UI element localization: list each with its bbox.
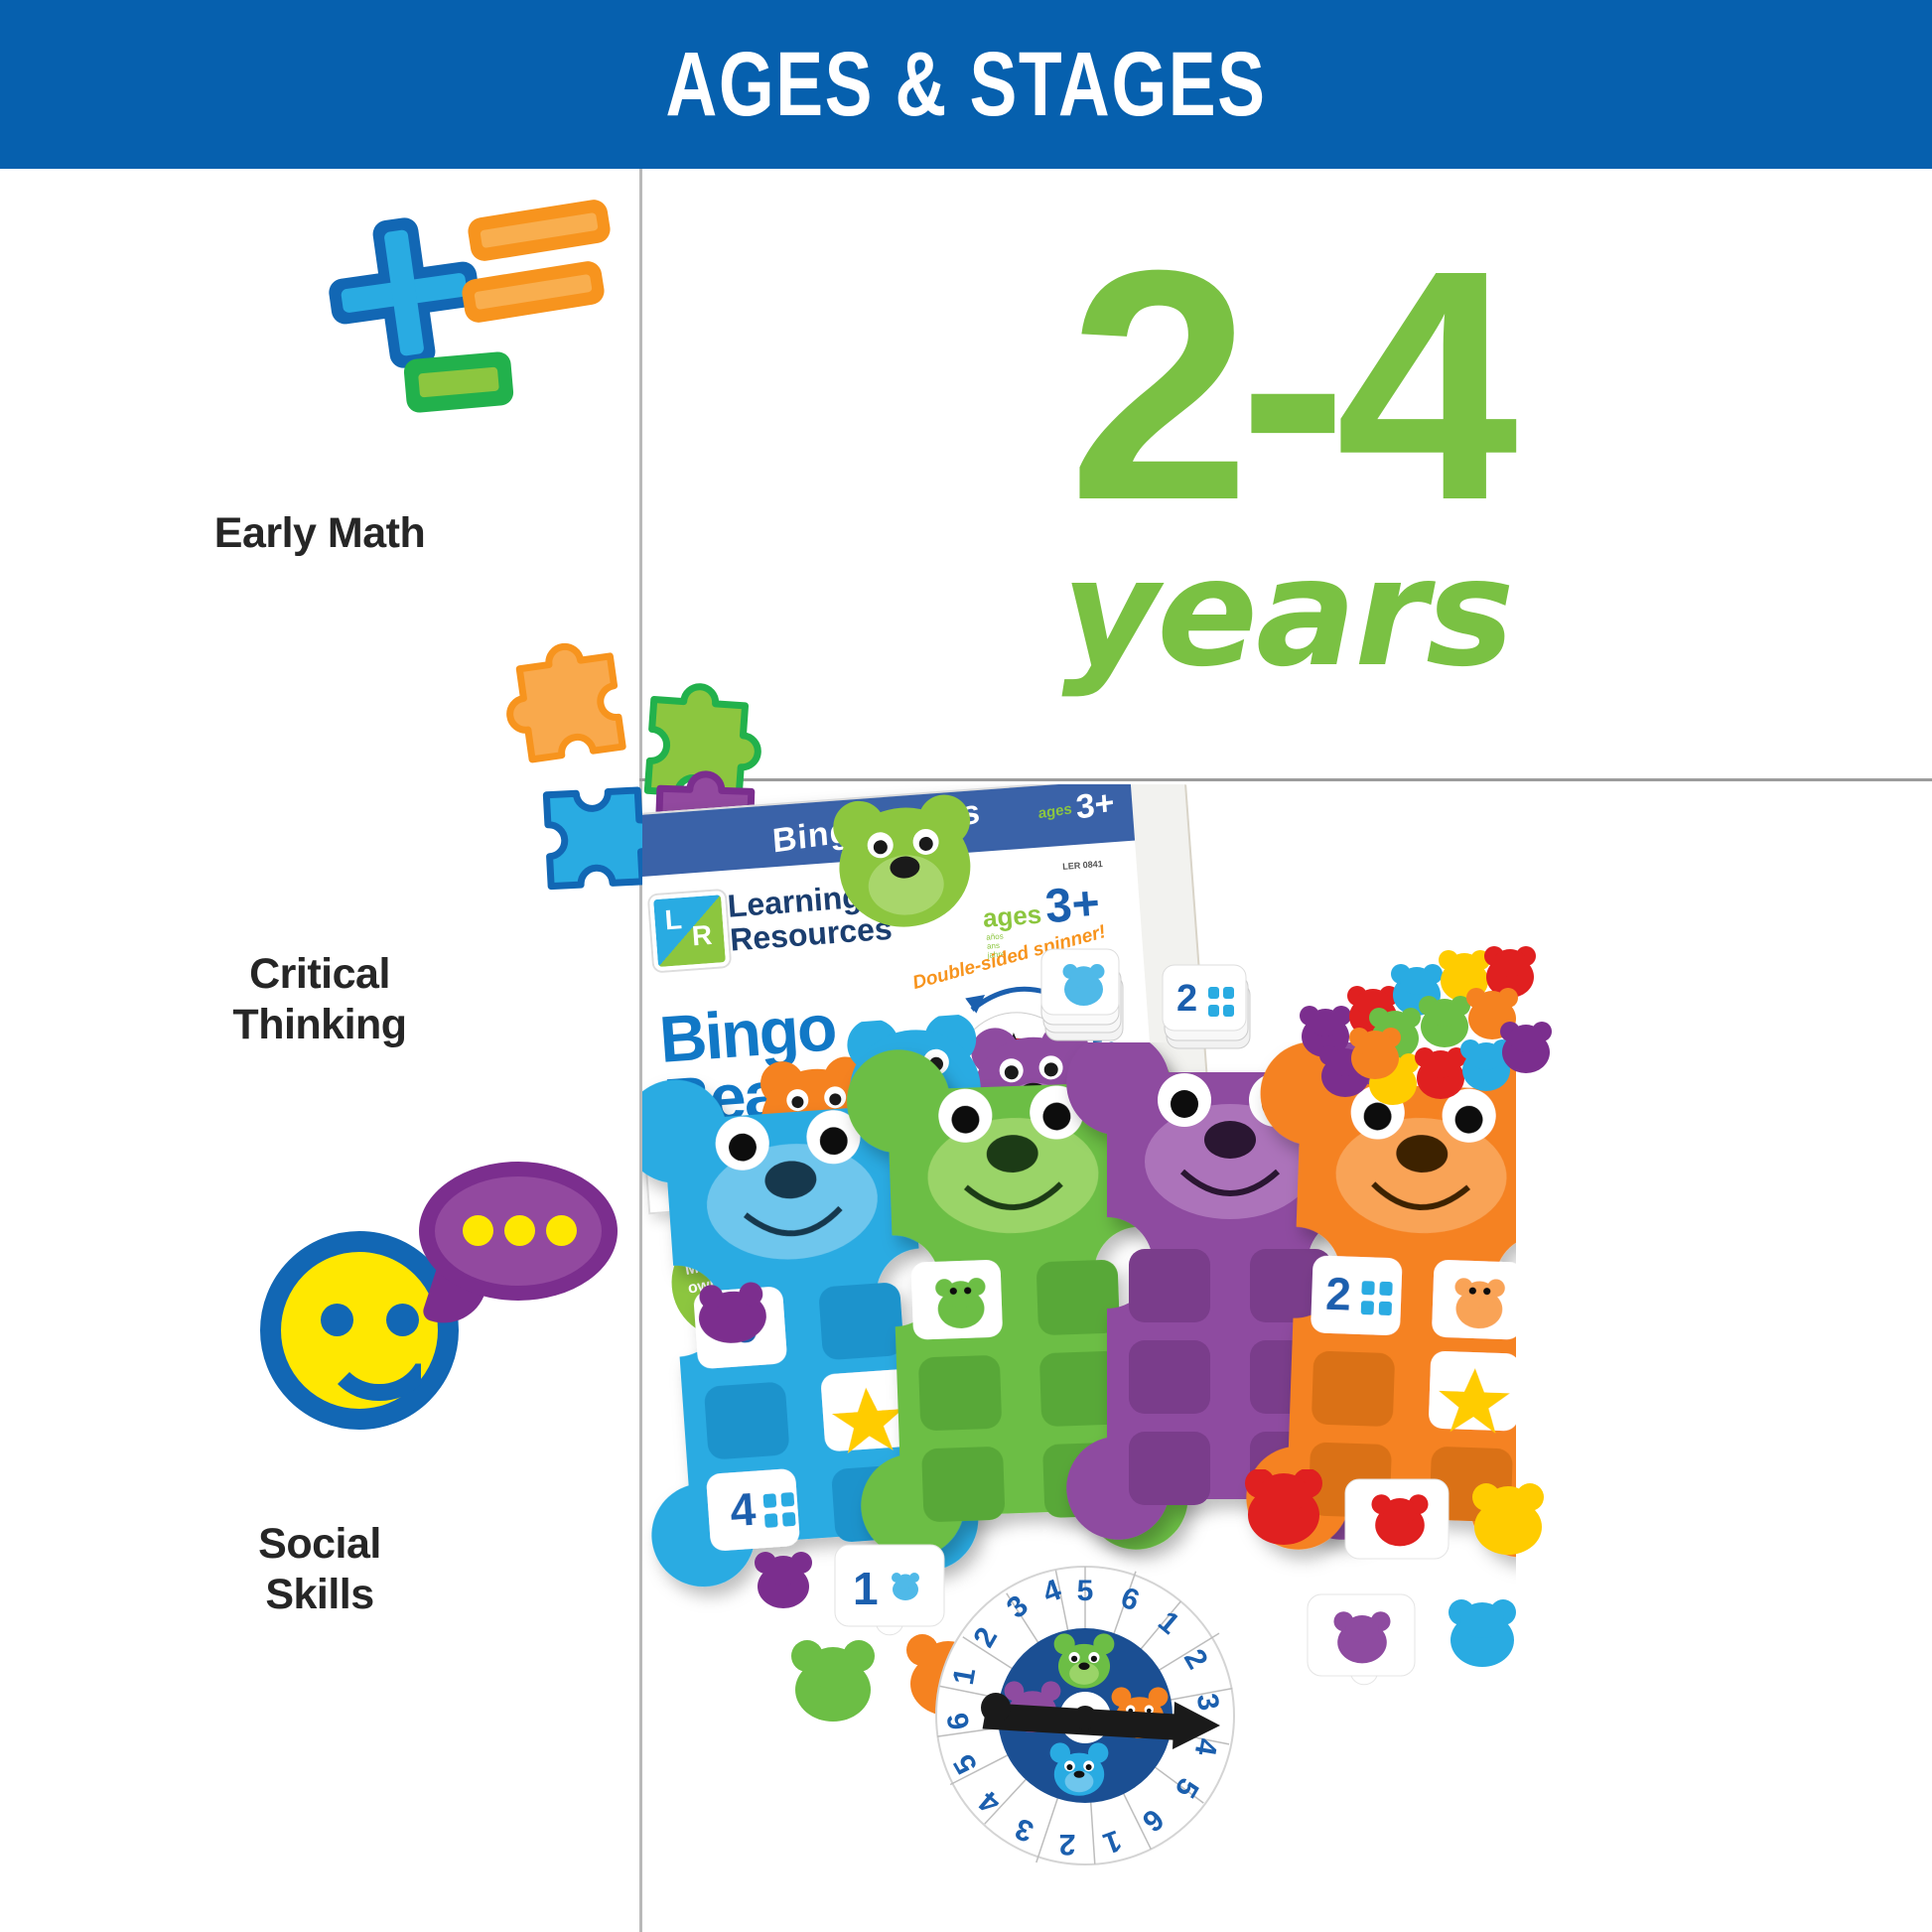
skills-sidebar: Early Math Critical Thinking [0, 169, 639, 1932]
early-math-icon [310, 189, 637, 437]
skill-item-social-skills: Social Skills [0, 1162, 639, 1619]
game-spinner: 5 6 1 2 3 4 5 6 1 2 3 4 5 6 1 2 3 4 [926, 1557, 1244, 1874]
ellipsis-dot-3 [546, 1215, 577, 1246]
svg-text:2: 2 [1176, 978, 1197, 1020]
green-counter-loose [791, 1640, 875, 1722]
smiley-speech-bubble-icon [240, 1162, 618, 1459]
left-eye-icon [321, 1304, 353, 1336]
skill-label-critical-thinking: Critical Thinking [0, 949, 639, 1049]
age-range-number: 2-4 [642, 221, 1932, 549]
age-range-unit: years [642, 539, 1932, 688]
minus-sign-icon [403, 350, 514, 413]
svg-text:2: 2 [1059, 1828, 1076, 1861]
learning-resources-cube-logo: LR [649, 891, 730, 971]
ellipsis-dot-1 [463, 1215, 493, 1246]
tile-red-bear [1345, 1479, 1449, 1559]
band-ages-value: 3+ [1074, 784, 1115, 827]
box-art-green-bear [814, 784, 994, 947]
right-eye-icon [386, 1304, 419, 1336]
svg-text:1: 1 [853, 1563, 879, 1614]
skill-label-early-math: Early Math [0, 508, 639, 559]
puzzle-pieces-icon [310, 625, 637, 923]
tile-stacks-group: 2 [1039, 935, 1298, 1064]
header-banner: AGES & STAGES [0, 0, 1932, 169]
tile-stack-2: 2 [1163, 965, 1250, 1048]
red-counter-loose [1245, 1469, 1322, 1545]
yellow-counter-loose [1472, 1483, 1544, 1555]
tile-purple-bear [1308, 1594, 1415, 1685]
product-photo: Bingo Bears ages 3+ LR Learning Resource… [642, 784, 1932, 1932]
horizontal-divider [639, 778, 1932, 781]
svg-text:2: 2 [1324, 1268, 1351, 1320]
svg-text:5: 5 [1077, 1575, 1094, 1607]
purple-counter-loose [755, 1552, 812, 1608]
blue-counter-loose [1449, 1599, 1516, 1667]
skill-item-critical-thinking: Critical Thinking [0, 625, 639, 1049]
skill-item-early-math: Early Math [0, 189, 639, 559]
ellipsis-dot-2 [504, 1215, 535, 1246]
tile-stack-1 [1041, 949, 1123, 1040]
counting-bears-pile [1288, 933, 1566, 1132]
page-title: AGES & STAGES [212, 0, 1720, 169]
svg-text:4: 4 [729, 1483, 759, 1537]
loose-pieces-bottom-right [1228, 1469, 1625, 1767]
box-sku: LER 0841 [1062, 859, 1103, 872]
age-range-block: 2-4 years [642, 172, 1932, 778]
skill-label-social-skills: Social Skills [0, 1519, 639, 1619]
smile-icon [321, 1343, 438, 1401]
band-ages-label: ages [1037, 800, 1072, 822]
